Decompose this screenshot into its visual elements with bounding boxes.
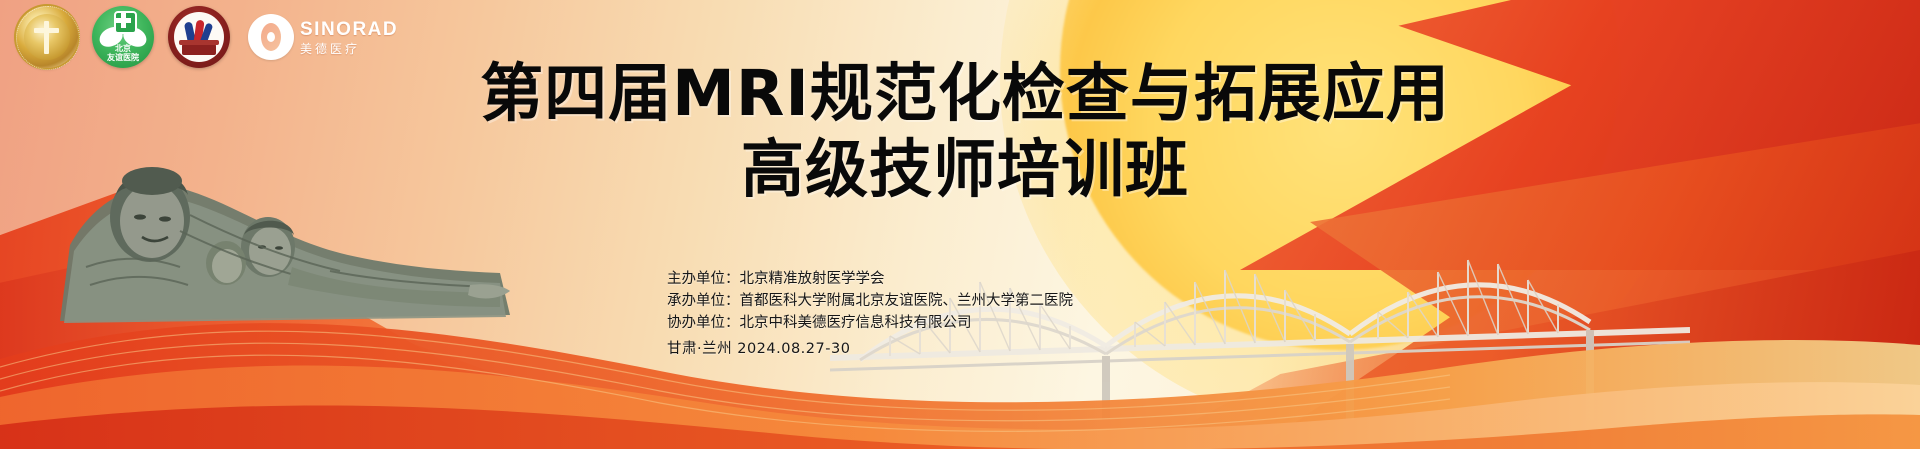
organizer-logos: 北京 友谊医院 SINORAD 美德医疗: [16, 6, 398, 68]
co-organizer-line: 承办单位：首都医科大学附属北京友谊医院、兰州大学第二医院: [667, 290, 1073, 312]
banner-subtitle-block: 主办单位：北京精准放射医学学会 承办单位：首都医科大学附属北京友谊医院、兰州大学…: [667, 268, 1073, 360]
hospital-logo-line1: 北京: [115, 44, 131, 53]
place-and-date-line: 甘肃·兰州 2024.08.27-30: [667, 338, 1073, 360]
supporter-line: 协办单位：北京中科美德医疗信息科技有限公司: [667, 312, 1073, 334]
banner-title-line-2: 高级技师培训班: [10, 138, 1920, 201]
sinorad-brand-en: SINORAD: [300, 20, 398, 39]
maroon-medallion-logo: [168, 6, 230, 68]
conference-banner: 北京 友谊医院 SINORAD 美德医疗 第四届MRI规范化检查与拓展应用 高级…: [0, 0, 1920, 449]
hospital-logo-line2: 友谊医院: [107, 53, 139, 62]
gold-medallion-logo: [16, 6, 78, 68]
sinorad-eye-icon: [248, 14, 294, 60]
banner-title-line-1: 第四届MRI规范化检查与拓展应用: [10, 62, 1920, 125]
sinorad-logo: SINORAD 美德医疗: [248, 14, 398, 60]
banner-title-block: 第四届MRI规范化检查与拓展应用 高级技师培训班: [0, 62, 1920, 201]
organizer-line: 主办单位：北京精准放射医学学会: [667, 268, 1073, 290]
sinorad-brand-cn: 美德医疗: [300, 43, 398, 55]
beijing-friendship-hospital-logo: 北京 友谊医院: [92, 6, 154, 68]
